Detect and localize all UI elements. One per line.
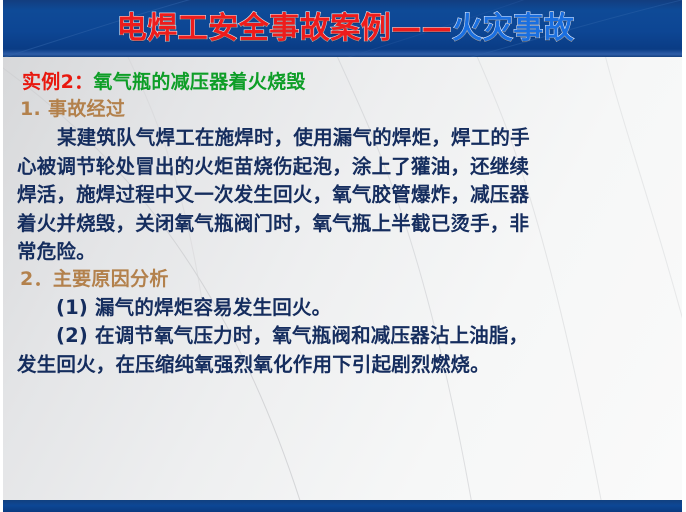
slide-body: 实例2：氧气瓶的减压器着火烧毁 1. 事故经过 某建筑队气焊工在施焊时，使用漏气… bbox=[3, 57, 682, 500]
page-title: 电焊工安全事故案例——火灾事故 bbox=[3, 0, 682, 57]
page-title-blue: 火灾事故 bbox=[452, 14, 574, 44]
slide-header-band: 电焊工安全事故案例——火灾事故 bbox=[3, 0, 682, 57]
cause-item-line: (2) 在调节氧气压力时，氧气瓶阀和减压器沾上油脂， bbox=[17, 326, 672, 346]
case-text: 氧气瓶的减压器着火烧毁 bbox=[93, 71, 305, 93]
cause-item-line: 发生回火，在压缩纯氧强烈氧化作用下引起剧烈燃烧。 bbox=[17, 355, 672, 375]
cause-item-line: (1) 漏气的焊炬容易发生回火。 bbox=[17, 298, 672, 318]
paragraph-line: 心被调节轮处冒出的火炬苗烧伤起泡，涂上了獾油，还继续 bbox=[17, 157, 672, 177]
bottom-accent-bar bbox=[3, 500, 682, 512]
paragraph-line: 某建筑队气焊工在施焊时，使用漏气的焊炬，焊工的手 bbox=[17, 128, 672, 148]
paragraph-line: 着火并烧毁，关闭氧气瓶阀门时，氧气瓶上半截已烫手，非 bbox=[17, 214, 672, 234]
paragraph-line: 常危险。 bbox=[17, 242, 672, 262]
page-title-red: 电焊工安全事故案例—— bbox=[117, 14, 453, 44]
section-heading-2: 2．主要原因分析 bbox=[20, 270, 672, 289]
paragraph-line: 焊活，施焊过程中又一次发生回火，氧气胶管爆炸，减压器 bbox=[17, 185, 672, 205]
section-1-paragraph: 某建筑队气焊工在施焊时，使用漏气的焊炬，焊工的手 心被调节轮处冒出的火炬苗烧伤起… bbox=[17, 128, 672, 262]
slide: 电焊工安全事故案例——火灾事故 实例2：氧气瓶的减压器着火烧毁 1. 事故经过 … bbox=[0, 0, 686, 512]
case-label: 实例2： bbox=[22, 71, 93, 93]
case-title: 实例2：氧气瓶的减压器着火烧毁 bbox=[22, 73, 672, 92]
cause-item-2: (2) 在调节氧气压力时，氧气瓶阀和减压器沾上油脂， 发生回火，在压缩纯氧强烈氧… bbox=[17, 326, 672, 374]
section-heading-1: 1. 事故经过 bbox=[20, 100, 672, 119]
slide-content: 实例2：氧气瓶的减压器着火烧毁 1. 事故经过 某建筑队气焊工在施焊时，使用漏气… bbox=[3, 57, 682, 500]
cause-item-1: (1) 漏气的焊炬容易发生回火。 bbox=[17, 298, 672, 318]
